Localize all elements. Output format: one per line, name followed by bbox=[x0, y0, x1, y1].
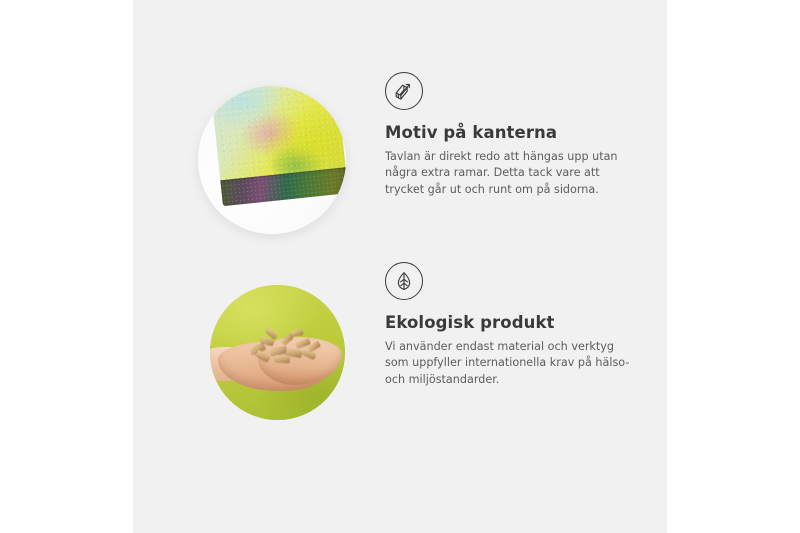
canvas-wrapped-edge-icon bbox=[385, 72, 423, 110]
feature-block-ekologisk-produkt: Ekologisk produkt Vi använder endast mat… bbox=[133, 262, 667, 452]
feature-infographic: Motiv på kanterna Tavlan är direkt redo … bbox=[0, 0, 800, 533]
hands bbox=[212, 333, 344, 399]
feature-block-motiv-pa-kanterna: Motiv på kanterna Tavlan är direkt redo … bbox=[133, 72, 667, 262]
content-panel: Motiv på kanterna Tavlan är direkt redo … bbox=[133, 0, 667, 533]
canvas-corner-photo bbox=[198, 86, 346, 234]
feature-title: Ekologisk produkt bbox=[385, 313, 647, 333]
feature-copy-motiv-pa-kanterna: Motiv på kanterna Tavlan är direkt redo … bbox=[385, 72, 647, 198]
canvas-block bbox=[209, 86, 346, 208]
wood-chip-pile bbox=[248, 329, 322, 369]
feature-description: Tavlan är direkt redo att hängas upp uta… bbox=[385, 149, 637, 198]
feature-copy-ekologisk-produkt: Ekologisk produkt Vi använder endast mat… bbox=[385, 262, 647, 388]
leaf-icon bbox=[385, 262, 423, 300]
feature-description: Vi använder endast material och verktyg … bbox=[385, 339, 637, 388]
feature-title: Motiv på kanterna bbox=[385, 123, 647, 143]
hands-holding-wood-chips-photo bbox=[210, 285, 345, 420]
